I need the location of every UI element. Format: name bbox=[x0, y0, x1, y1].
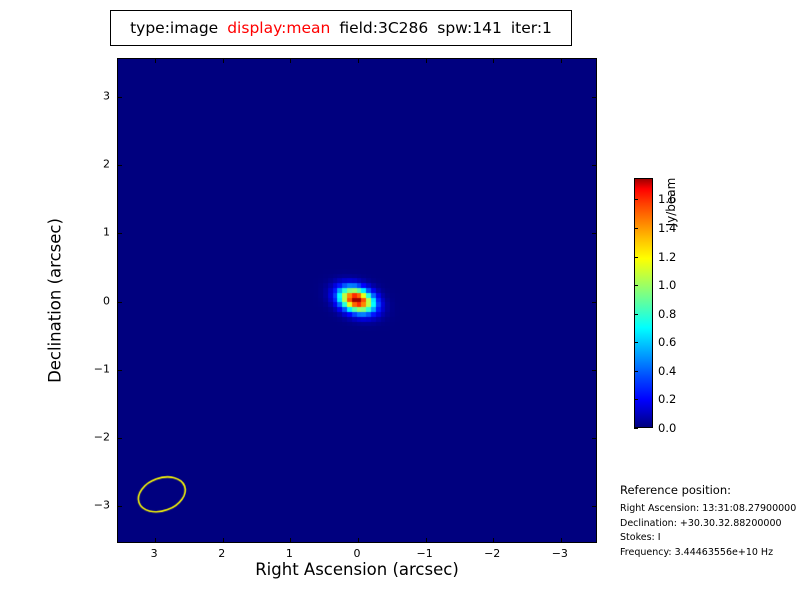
title-display: display:mean bbox=[227, 19, 330, 37]
colorbar-tick-label: 0.0 bbox=[658, 421, 676, 435]
y-tick-label: 1 bbox=[70, 226, 110, 239]
colorbar-unit-label: Jy/beam bbox=[664, 142, 678, 262]
reference-position-block: Reference position: Right Ascension: 13:… bbox=[620, 483, 800, 560]
colorbar-tick-mark bbox=[634, 285, 638, 286]
colorbar-tick-label: 0.2 bbox=[658, 392, 676, 406]
y-tick-label: −3 bbox=[70, 499, 110, 512]
colorbar-tick-mark bbox=[634, 342, 638, 343]
y-tick-mark bbox=[592, 233, 596, 234]
x-tick-mark bbox=[358, 538, 359, 542]
x-tick-label: 3 bbox=[151, 547, 158, 560]
sky-image-plot[interactable] bbox=[117, 58, 597, 543]
x-tick-mark bbox=[155, 59, 156, 63]
x-tick-mark bbox=[493, 538, 494, 542]
x-tick-label: −1 bbox=[416, 547, 432, 560]
y-tick-mark bbox=[118, 506, 122, 507]
reference-stokes: Stokes: I bbox=[620, 531, 800, 546]
y-tick-mark bbox=[118, 302, 122, 303]
reference-right-ascension: Right Ascension: 13:31:08.27900000 bbox=[620, 502, 800, 517]
x-tick-label: 2 bbox=[218, 547, 225, 560]
colorbar-gradient bbox=[634, 178, 653, 428]
y-tick-mark bbox=[592, 97, 596, 98]
colorbar-tick-mark bbox=[634, 399, 638, 400]
image-heatmap-canvas bbox=[118, 59, 596, 542]
y-tick-mark bbox=[118, 97, 122, 98]
title-iter: iter:1 bbox=[511, 19, 552, 37]
x-tick-mark bbox=[426, 538, 427, 542]
x-tick-label: −2 bbox=[484, 547, 500, 560]
x-tick-label: −3 bbox=[552, 547, 568, 560]
colorbar-tick-mark bbox=[634, 199, 638, 200]
x-tick-mark bbox=[223, 538, 224, 542]
x-tick-mark bbox=[561, 59, 562, 63]
y-tick-mark bbox=[118, 438, 122, 439]
y-tick-mark bbox=[592, 165, 596, 166]
x-tick-mark bbox=[223, 59, 224, 63]
title-type: type:image bbox=[130, 19, 218, 37]
reference-frequency: Frequency: 3.44463556e+10 Hz bbox=[620, 546, 800, 561]
colorbar-tick-mark bbox=[634, 314, 638, 315]
y-tick-mark bbox=[118, 233, 122, 234]
colorbar-tick-label: 1.0 bbox=[658, 278, 676, 292]
colorbar-tick-mark bbox=[634, 257, 638, 258]
plot-title-box: type:image display:mean field:3C286 spw:… bbox=[110, 10, 572, 46]
title-spw: spw:141 bbox=[437, 19, 502, 37]
y-tick-mark bbox=[592, 370, 596, 371]
x-axis-label: Right Ascension (arcsec) bbox=[117, 560, 597, 579]
x-tick-mark bbox=[426, 59, 427, 63]
y-tick-label: −2 bbox=[70, 431, 110, 444]
x-tick-mark bbox=[358, 59, 359, 63]
x-tick-mark bbox=[290, 59, 291, 63]
x-tick-label: 0 bbox=[354, 547, 361, 560]
reference-position-heading: Reference position: bbox=[620, 483, 800, 497]
y-tick-mark bbox=[118, 165, 122, 166]
y-tick-label: 0 bbox=[70, 294, 110, 307]
y-tick-mark bbox=[592, 438, 596, 439]
colorbar-tick-label: 0.4 bbox=[658, 364, 676, 378]
y-tick-mark bbox=[592, 302, 596, 303]
y-tick-label: −1 bbox=[70, 362, 110, 375]
y-axis-label: Declination (arcsec) bbox=[46, 91, 65, 511]
x-tick-mark bbox=[290, 538, 291, 542]
reference-declination: Declination: +30.30.32.88200000 bbox=[620, 517, 800, 532]
colorbar-group[interactable]: 0.00.20.40.60.81.01.21.41.6 bbox=[634, 178, 653, 428]
x-tick-label: 1 bbox=[286, 547, 293, 560]
colorbar-tick-label: 0.6 bbox=[658, 335, 676, 349]
colorbar-tick-mark bbox=[634, 228, 638, 229]
y-tick-mark bbox=[118, 370, 122, 371]
title-field: field:3C286 bbox=[339, 19, 428, 37]
y-tick-mark bbox=[592, 506, 596, 507]
colorbar-tick-mark bbox=[634, 371, 638, 372]
x-tick-mark bbox=[561, 538, 562, 542]
y-tick-label: 3 bbox=[70, 89, 110, 102]
colorbar-tick-mark bbox=[634, 428, 638, 429]
y-tick-label: 2 bbox=[70, 157, 110, 170]
x-tick-mark bbox=[155, 538, 156, 542]
x-tick-mark bbox=[493, 59, 494, 63]
colorbar-tick-label: 0.8 bbox=[658, 307, 676, 321]
